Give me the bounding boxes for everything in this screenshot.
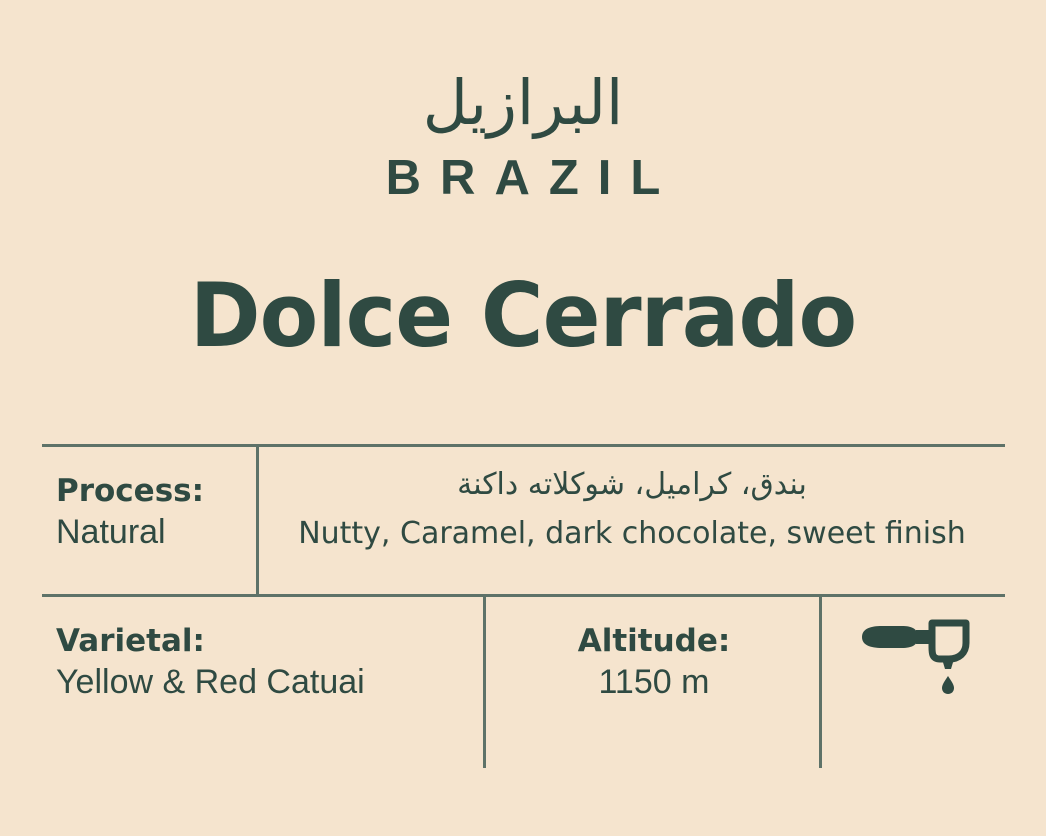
portafilter-icon [856, 615, 971, 695]
process-label: Process: [56, 473, 259, 510]
spec-row-process: Process: Natural بندق، كراميل، شوكلاته د… [42, 447, 1005, 594]
flavor-notes-arabic: بندق، كراميل، شوكلاته داكنة [259, 465, 1005, 506]
varietal-value: Yellow & Red Catuai [56, 660, 486, 706]
origin-block: البرازيل BRAZIL [0, 72, 1046, 206]
spec-cell-flavor-notes: بندق، كراميل، شوكلاته داكنة Nutty, Caram… [259, 447, 1005, 594]
process-value: Natural [56, 510, 259, 556]
flavor-notes-latin: Nutty, Caramel, dark chocolate, sweet fi… [259, 514, 1005, 553]
spec-cell-altitude: Altitude: 1150 m [486, 597, 822, 768]
altitude-label: Altitude: [486, 623, 822, 660]
altitude-value: 1150 m [486, 660, 822, 706]
spec-row-varietal-altitude: Varietal: Yellow & Red Catuai Altitude: … [42, 597, 1005, 768]
spec-cell-varietal: Varietal: Yellow & Red Catuai [42, 597, 486, 768]
origin-name-arabic: البرازيل [0, 72, 1046, 134]
spec-cell-brew-method [822, 597, 1005, 768]
origin-name-latin: BRAZIL [0, 150, 1046, 206]
coffee-bag-label: البرازيل BRAZIL Dolce Cerrado Process: N… [0, 0, 1046, 836]
product-name: Dolce Cerrado [16, 272, 1031, 360]
varietal-label: Varietal: [56, 623, 486, 660]
spec-cell-process: Process: Natural [42, 447, 259, 594]
spec-table: Process: Natural بندق، كراميل، شوكلاته د… [42, 444, 1005, 768]
